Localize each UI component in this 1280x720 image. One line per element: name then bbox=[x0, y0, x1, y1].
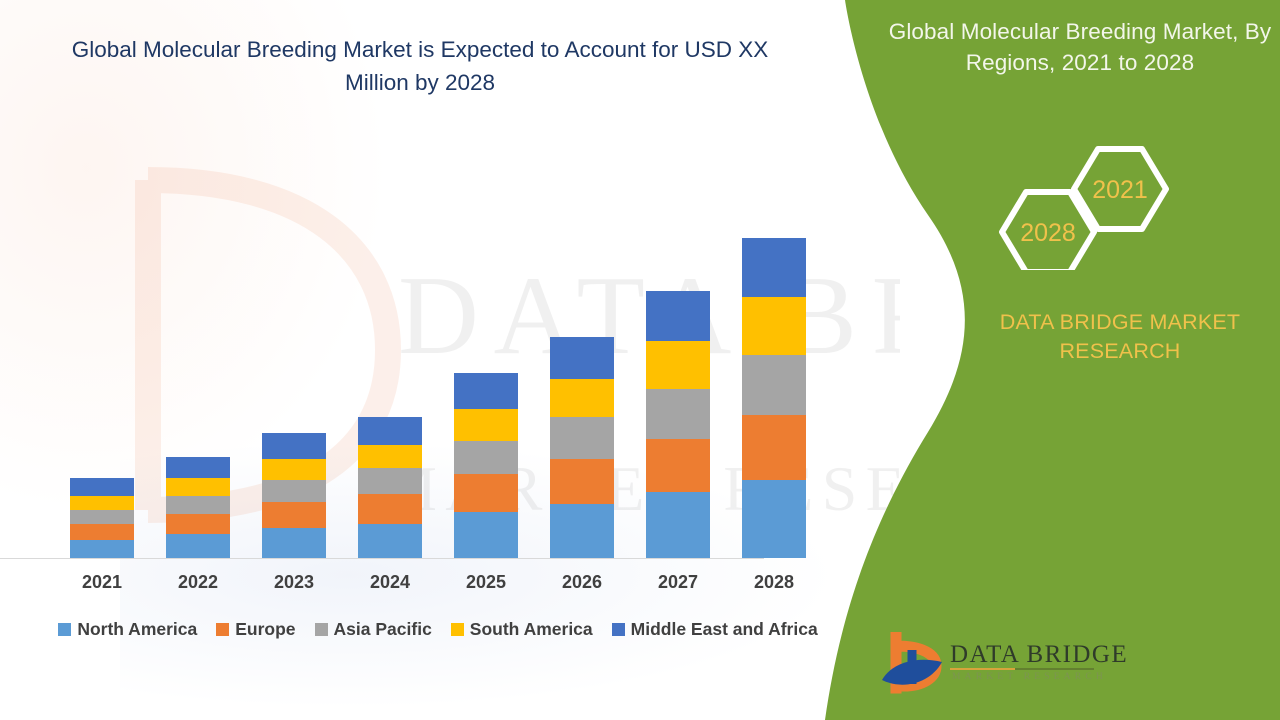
dbmr-subtext: MARKET RESEARCH bbox=[952, 672, 1107, 682]
panel-title: Global Molecular Breeding Market, By Reg… bbox=[880, 16, 1280, 78]
legend-swatch-icon bbox=[612, 623, 625, 636]
bar-segment bbox=[454, 441, 518, 475]
legend-item[interactable]: Middle East and Africa bbox=[612, 619, 818, 640]
bar-segment bbox=[166, 534, 230, 558]
bar-segment bbox=[550, 417, 614, 459]
bar-segment bbox=[70, 524, 134, 540]
chart-plot-area bbox=[56, 160, 820, 558]
legend-label: South America bbox=[470, 619, 593, 640]
x-axis-line bbox=[0, 558, 764, 559]
legend-swatch-icon bbox=[315, 623, 328, 636]
legend-item[interactable]: South America bbox=[451, 619, 593, 640]
bar-segment bbox=[646, 291, 710, 341]
bar-segment bbox=[454, 474, 518, 512]
x-axis-label: 2025 bbox=[454, 572, 518, 602]
stacked-bar-chart bbox=[56, 160, 820, 558]
legend-label: Asia Pacific bbox=[334, 619, 432, 640]
legend-label: Middle East and Africa bbox=[631, 619, 818, 640]
bar-segment bbox=[70, 540, 134, 558]
legend-swatch-icon bbox=[451, 623, 464, 636]
bar-segment bbox=[454, 512, 518, 558]
x-axis-label: 2028 bbox=[742, 572, 806, 602]
bar-segment bbox=[550, 459, 614, 505]
legend-item[interactable]: North America bbox=[58, 619, 197, 640]
bar-segment bbox=[70, 510, 134, 524]
bar-segment bbox=[742, 415, 806, 481]
bar-segment bbox=[70, 496, 134, 510]
bar-segment bbox=[358, 494, 422, 524]
bar-segment bbox=[262, 459, 326, 481]
bar-segment bbox=[454, 409, 518, 441]
bar-segment bbox=[742, 297, 806, 355]
x-axis-label: 2022 bbox=[166, 572, 230, 602]
legend-label: Europe bbox=[235, 619, 295, 640]
x-axis-label: 2026 bbox=[550, 572, 614, 602]
bar-segment bbox=[550, 337, 614, 379]
bar-column bbox=[742, 160, 806, 558]
hexagon-label-2021: 2021 bbox=[1092, 176, 1148, 204]
bar-segment bbox=[550, 504, 614, 558]
bar-segment bbox=[646, 389, 710, 439]
bar-column bbox=[166, 160, 230, 558]
bar-column bbox=[358, 160, 422, 558]
x-axis-label: 2024 bbox=[358, 572, 422, 602]
bar-segment bbox=[166, 478, 230, 496]
legend-swatch-icon bbox=[58, 623, 71, 636]
legend-item[interactable]: Europe bbox=[216, 619, 295, 640]
bar-segment bbox=[550, 379, 614, 417]
bar-segment bbox=[646, 492, 710, 558]
hexagon-badges: 2021 2028 bbox=[990, 145, 1180, 270]
bar-column bbox=[550, 160, 614, 558]
bar-column bbox=[454, 160, 518, 558]
hexagon-label-2028: 2028 bbox=[1020, 219, 1076, 247]
bar-segment bbox=[166, 457, 230, 479]
bar-segment bbox=[742, 480, 806, 558]
dbmr-divider bbox=[950, 668, 1094, 670]
bar-segment bbox=[262, 433, 326, 459]
bar-segment bbox=[358, 468, 422, 494]
bar-segment bbox=[166, 514, 230, 534]
legend-swatch-icon bbox=[216, 623, 229, 636]
bar-segment bbox=[646, 439, 710, 493]
bar-segment bbox=[742, 355, 806, 415]
bar-segment bbox=[454, 373, 518, 409]
hexagon-badges-svg: 2021 2028 bbox=[990, 145, 1180, 270]
bar-segment bbox=[166, 496, 230, 514]
legend-item[interactable]: Asia Pacific bbox=[315, 619, 432, 640]
x-axis-label: 2023 bbox=[262, 572, 326, 602]
chart-legend: North AmericaEuropeAsia PacificSouth Ame… bbox=[56, 615, 820, 643]
bar-segment bbox=[358, 417, 422, 445]
bar-segment bbox=[742, 238, 806, 298]
brand-text: DATA BRIDGE MARKET RESEARCH bbox=[965, 308, 1275, 366]
x-axis-labels: 20212022202320242025202620272028 bbox=[56, 572, 820, 602]
legend-label: North America bbox=[77, 619, 197, 640]
bar-segment bbox=[262, 480, 326, 502]
bar-column bbox=[262, 160, 326, 558]
bar-segment bbox=[262, 528, 326, 558]
dbmr-wordmark: DATA BRIDGE bbox=[950, 641, 1128, 669]
x-axis-label: 2021 bbox=[70, 572, 134, 602]
bar-column bbox=[646, 160, 710, 558]
bar-segment bbox=[358, 445, 422, 469]
bar-segment bbox=[70, 478, 134, 496]
dbmr-logo-mark bbox=[878, 632, 958, 694]
chart-title: Global Molecular Breeding Market is Expe… bbox=[70, 33, 770, 99]
bar-segment bbox=[646, 341, 710, 389]
x-axis-label: 2027 bbox=[646, 572, 710, 602]
bar-column bbox=[70, 160, 134, 558]
bar-segment bbox=[262, 502, 326, 528]
bar-segment bbox=[358, 524, 422, 558]
